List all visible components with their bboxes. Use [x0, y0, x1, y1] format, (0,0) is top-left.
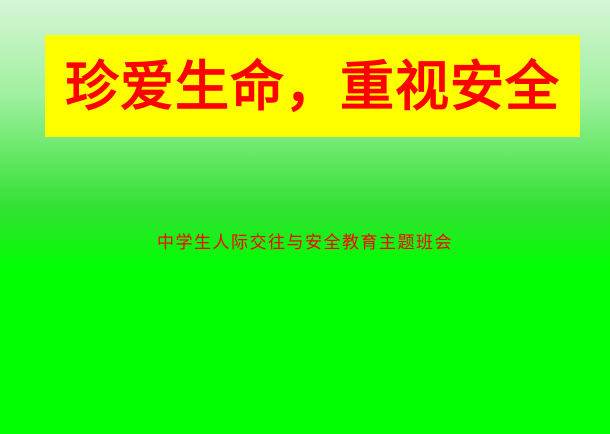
slide-subtitle: 中学生人际交往与安全教育主题班会 — [0, 228, 610, 253]
title-banner: 珍爱生命，重视安全 — [45, 35, 580, 137]
presentation-slide: 珍爱生命，重视安全 中学生人际交往与安全教育主题班会 — [0, 0, 610, 434]
slide-title: 珍爱生命，重视安全 — [65, 59, 560, 113]
